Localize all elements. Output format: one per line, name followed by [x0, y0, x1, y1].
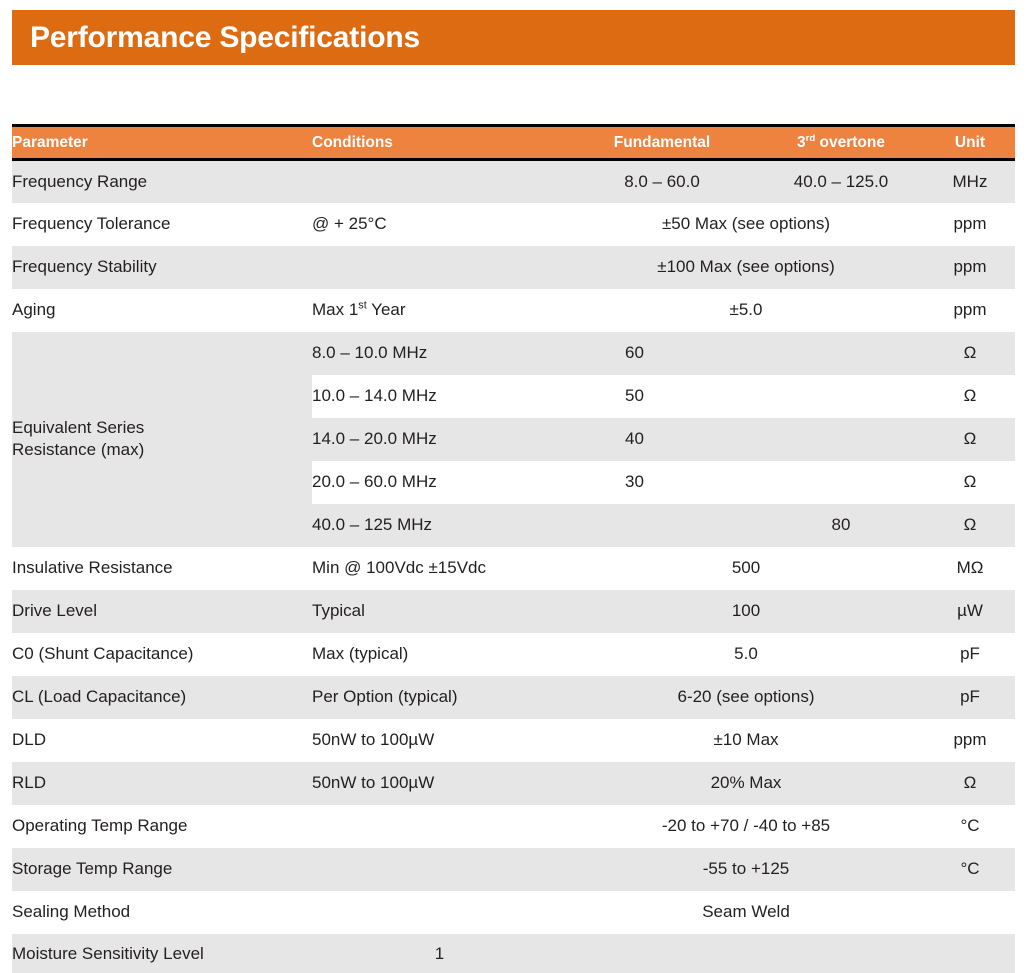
cell-overtone	[757, 461, 925, 504]
cell-unit	[925, 934, 1015, 973]
cell-conditions: 1	[312, 934, 567, 973]
cell-unit: °C	[925, 848, 1015, 891]
column-header-parameter: Parameter	[12, 126, 312, 160]
cell-value-span: 500	[567, 547, 925, 590]
cell-parameter: DLD	[12, 719, 312, 762]
cell-conditions: Typical	[312, 590, 567, 633]
cell-value-span: Seam Weld	[567, 891, 925, 934]
cell-overtone	[757, 332, 925, 375]
cell-value-span	[567, 934, 925, 973]
esr-label-line2: Resistance (max)	[12, 440, 144, 459]
cell-conditions: Max (typical)	[312, 633, 567, 676]
cell-unit: ppm	[925, 289, 1015, 332]
cell-conditions: 50nW to 100µW	[312, 762, 567, 805]
cell-parameter: Moisture Sensitivity Level	[12, 934, 312, 973]
column-header-fundamental: Fundamental	[567, 126, 757, 160]
cell-conditions	[312, 246, 567, 289]
table-row: Operating Temp Range -20 to +70 / -40 to…	[12, 805, 1015, 848]
overtone-prefix: 3	[797, 134, 806, 151]
cell-fundamental: 30	[567, 461, 757, 504]
cell-conditions	[312, 848, 567, 891]
cell-conditions	[312, 160, 567, 203]
cell-unit: Ω	[925, 332, 1015, 375]
overtone-suffix: overtone	[815, 134, 885, 151]
table-row: Sealing Method Seam Weld	[12, 891, 1015, 934]
page-title-banner: Performance Specifications	[12, 10, 1015, 65]
cell-parameter: Operating Temp Range	[12, 805, 312, 848]
cell-conditions: 10.0 – 14.0 MHz	[312, 375, 567, 418]
cell-conditions: 14.0 – 20.0 MHz	[312, 418, 567, 461]
column-header-conditions: Conditions	[312, 126, 567, 160]
cell-unit: Ω	[925, 762, 1015, 805]
cell-value-span: 6-20 (see options)	[567, 676, 925, 719]
cell-value-span: ±10 Max	[567, 719, 925, 762]
cell-unit	[925, 891, 1015, 934]
cell-parameter: RLD	[12, 762, 312, 805]
cell-conditions: 8.0 – 10.0 MHz	[312, 332, 567, 375]
table-row: Frequency Tolerance @ + 25°C ±50 Max (se…	[12, 203, 1015, 246]
table-header-row: Parameter Conditions Fundamental 3rd ove…	[12, 126, 1015, 160]
cell-conditions: Min @ 100Vdc ±15Vdc	[312, 547, 567, 590]
cell-fundamental	[567, 504, 757, 547]
cell-parameter: Storage Temp Range	[12, 848, 312, 891]
table-header: Parameter Conditions Fundamental 3rd ove…	[12, 126, 1015, 160]
table-row: Frequency Range 8.0 – 60.0 40.0 – 125.0 …	[12, 160, 1015, 203]
cell-conditions: 50nW to 100µW	[312, 719, 567, 762]
cell-unit: pF	[925, 633, 1015, 676]
column-header-unit: Unit	[925, 126, 1015, 160]
cell-conditions	[312, 805, 567, 848]
cell-value-span: -20 to +70 / -40 to +85	[567, 805, 925, 848]
cell-conditions: @ + 25°C	[312, 203, 567, 246]
performance-specifications-table: Parameter Conditions Fundamental 3rd ove…	[12, 124, 1015, 973]
table-row: Insulative Resistance Min @ 100Vdc ±15Vd…	[12, 547, 1015, 590]
cell-parameter-esr-group: Equivalent SeriesResistance (max)	[12, 332, 312, 547]
cell-value-span: ±100 Max (see options)	[567, 246, 925, 289]
cell-unit: ppm	[925, 719, 1015, 762]
cell-overtone: 80	[757, 504, 925, 547]
cell-unit: pF	[925, 676, 1015, 719]
cell-parameter: Frequency Stability	[12, 246, 312, 289]
cell-fundamental: 60	[567, 332, 757, 375]
datasheet-page: Performance Specifications Parameter Con…	[0, 0, 1029, 973]
cell-overtone: 40.0 – 125.0	[757, 160, 925, 203]
table-row: Equivalent SeriesResistance (max) 8.0 – …	[12, 332, 1015, 375]
cell-unit: ppm	[925, 203, 1015, 246]
column-header-3rd-overtone: 3rd overtone	[757, 126, 925, 160]
cell-conditions: Max 1st Year	[312, 289, 567, 332]
table-row: Moisture Sensitivity Level 1	[12, 934, 1015, 973]
cell-value-span: 20% Max	[567, 762, 925, 805]
page-title: Performance Specifications	[30, 23, 420, 53]
cell-unit: Ω	[925, 375, 1015, 418]
cell-overtone	[757, 418, 925, 461]
cell-parameter: Drive Level	[12, 590, 312, 633]
cell-unit: Ω	[925, 461, 1015, 504]
cell-conditions: 20.0 – 60.0 MHz	[312, 461, 567, 504]
cell-parameter: Insulative Resistance	[12, 547, 312, 590]
table-row: Aging Max 1st Year ±5.0 ppm	[12, 289, 1015, 332]
cell-conditions: Per Option (typical)	[312, 676, 567, 719]
table-row: DLD 50nW to 100µW ±10 Max ppm	[12, 719, 1015, 762]
cell-value-span: -55 to +125	[567, 848, 925, 891]
cell-fundamental: 50	[567, 375, 757, 418]
cell-parameter: Frequency Tolerance	[12, 203, 312, 246]
cell-value-span: ±50 Max (see options)	[567, 203, 925, 246]
cell-unit: Ω	[925, 504, 1015, 547]
table-row: C0 (Shunt Capacitance) Max (typical) 5.0…	[12, 633, 1015, 676]
table-row: CL (Load Capacitance) Per Option (typica…	[12, 676, 1015, 719]
conditions-ordinal-suffix: st	[358, 299, 366, 311]
conditions-suffix: Year	[367, 300, 406, 319]
cell-parameter: Aging	[12, 289, 312, 332]
cell-unit: ppm	[925, 246, 1015, 289]
table-row: RLD 50nW to 100µW 20% Max Ω	[12, 762, 1015, 805]
table-row: Frequency Stability ±100 Max (see option…	[12, 246, 1015, 289]
table-row: Storage Temp Range -55 to +125 °C	[12, 848, 1015, 891]
cell-value-span: ±5.0	[567, 289, 925, 332]
cell-conditions	[312, 891, 567, 934]
cell-parameter: C0 (Shunt Capacitance)	[12, 633, 312, 676]
cell-fundamental: 40	[567, 418, 757, 461]
cell-overtone	[757, 375, 925, 418]
cell-unit: °C	[925, 805, 1015, 848]
cell-value-span: 5.0	[567, 633, 925, 676]
conditions-prefix: Max 1	[312, 300, 358, 319]
esr-label-line1: Equivalent Series	[12, 418, 144, 437]
cell-parameter: Frequency Range	[12, 160, 312, 203]
cell-unit: MΩ	[925, 547, 1015, 590]
cell-unit: MHz	[925, 160, 1015, 203]
cell-parameter: Sealing Method	[12, 891, 312, 934]
cell-unit: Ω	[925, 418, 1015, 461]
cell-conditions: 40.0 – 125 MHz	[312, 504, 567, 547]
cell-parameter: CL (Load Capacitance)	[12, 676, 312, 719]
cell-value-span: 100	[567, 590, 925, 633]
table-row: Drive Level Typical 100 µW	[12, 590, 1015, 633]
table-body: Frequency Range 8.0 – 60.0 40.0 – 125.0 …	[12, 160, 1015, 973]
cell-unit: µW	[925, 590, 1015, 633]
cell-fundamental: 8.0 – 60.0	[567, 160, 757, 203]
overtone-ordinal-suffix: rd	[806, 132, 816, 143]
